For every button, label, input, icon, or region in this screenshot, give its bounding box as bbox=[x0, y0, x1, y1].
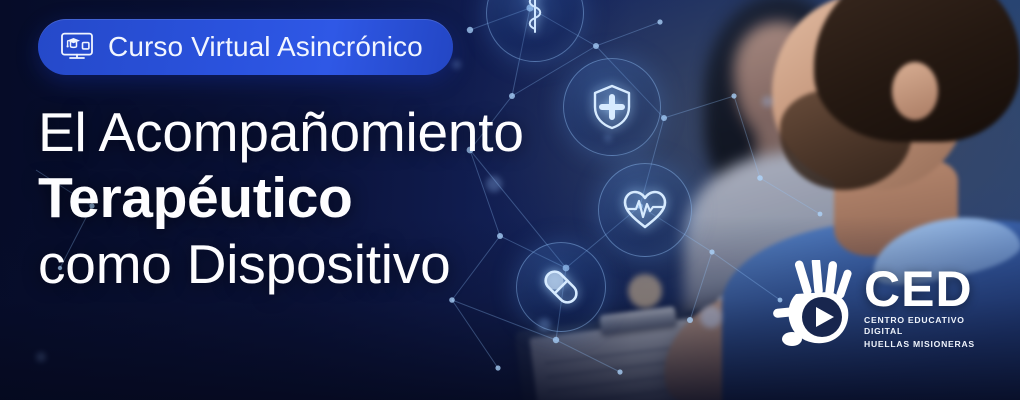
course-type-badge[interactable]: Curso Virtual Asincrónico bbox=[38, 19, 453, 75]
monitor-graduation-cap-icon bbox=[60, 32, 94, 62]
logo-tagline-line-2: HUELLAS MISIONERAS bbox=[864, 339, 1002, 351]
professional-ear bbox=[892, 62, 938, 120]
logo-text-block: CED CENTRO EDUCATIVO DIGITAL HUELLAS MIS… bbox=[864, 262, 1002, 351]
headline-line-2: Terapéutico bbox=[38, 169, 638, 227]
logo-tagline-line-1: CENTRO EDUCATIVO DIGITAL bbox=[864, 315, 1002, 338]
course-promo-banner: Curso Virtual Asincrónico El Acompañomie… bbox=[0, 0, 1020, 400]
handprint-play-icon bbox=[772, 260, 860, 352]
badge-label: Curso Virtual Asincrónico bbox=[108, 31, 423, 63]
logo-acronym: CED bbox=[864, 266, 1002, 312]
headline-line-1: El Acompañomiento bbox=[38, 104, 638, 160]
ced-logo[interactable]: CED CENTRO EDUCATIVO DIGITAL HUELLAS MIS… bbox=[772, 258, 1002, 354]
caduceus-icon bbox=[515, 0, 555, 36]
headline-block: El Acompañomiento Terapéutico como Dispo… bbox=[38, 104, 638, 292]
headline-line-3: como Dispositivo bbox=[38, 236, 638, 292]
